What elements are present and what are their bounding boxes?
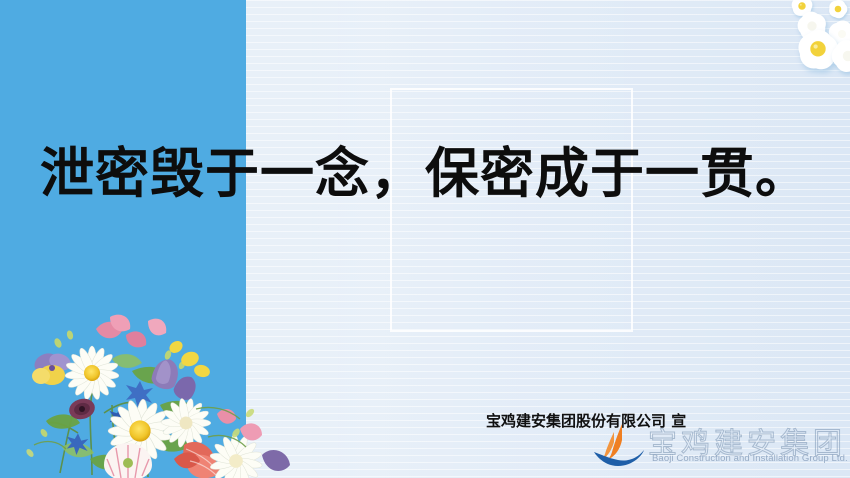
sailboat-logo-icon	[592, 422, 648, 468]
presentation-slide: 泄密毁于一念，保密成于一贯。	[0, 0, 850, 478]
watermark-english-text: Baoji Construction and Installation Grou…	[652, 453, 848, 464]
left-blue-panel	[0, 0, 246, 478]
slide-headline: 泄密毁于一念，保密成于一贯。	[0, 147, 850, 201]
decorative-rectangle-outline	[390, 88, 633, 332]
company-watermark-logo: 宝鸡建安集团 Baoji Construction and Installati…	[592, 420, 850, 478]
